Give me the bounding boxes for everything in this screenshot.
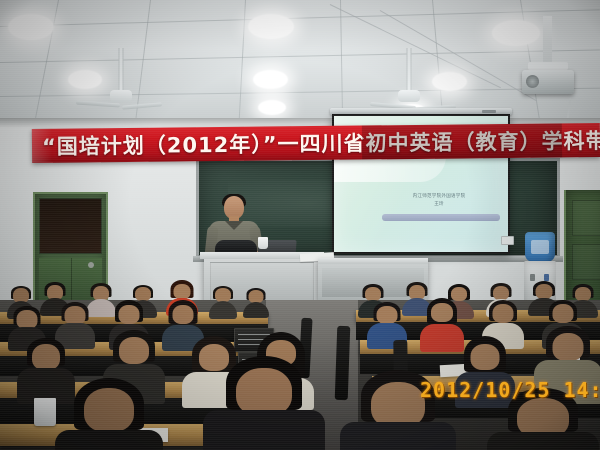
audience-member-foreground	[216, 356, 312, 450]
chair-back	[335, 326, 351, 400]
audience-member	[424, 298, 460, 346]
audience-member-foreground	[66, 378, 152, 450]
classroom-photograph: 初中英语教师专业化问题探讨 内江师范学院外国语学院 王玲 “国培计划（2012年…	[0, 0, 600, 450]
cabinet-glass-pane	[39, 198, 102, 254]
projector	[520, 62, 576, 102]
cup-on-podium	[258, 237, 268, 249]
ceiling-light	[258, 100, 286, 115]
wall-outlet	[501, 236, 514, 245]
ceiling-light	[68, 70, 102, 89]
ceiling-light	[492, 20, 540, 46]
ceiling	[0, 0, 600, 122]
ceiling-fan	[98, 48, 144, 116]
ceiling-light	[253, 70, 288, 89]
ceiling-light	[8, 14, 54, 40]
ceiling-light	[432, 72, 467, 91]
audience-member	[210, 286, 236, 316]
cabinet-knob	[88, 262, 94, 268]
ceiling-light	[248, 14, 294, 39]
water-bottle	[525, 232, 555, 262]
cooler-tap-cold[interactable]	[544, 274, 549, 281]
camera-timestamp: 2012/10/25 14:45	[420, 378, 600, 402]
event-banner: “国培计划（2012年）”一四川省初中英语（教育）学科带头人	[32, 123, 600, 163]
paper-cup	[34, 398, 56, 426]
audience-member	[22, 338, 70, 400]
banner-shadow-overlay	[362, 123, 562, 159]
projector-lens	[526, 75, 539, 88]
cooler-tap-hot[interactable]	[530, 274, 535, 281]
ceiling-fan	[386, 48, 432, 116]
audience-member	[244, 288, 268, 316]
